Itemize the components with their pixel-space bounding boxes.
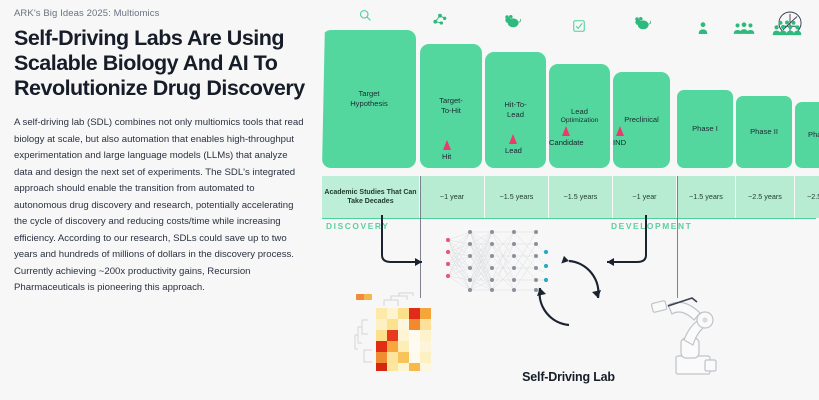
milestone-label: IND xyxy=(613,138,626,147)
body-paragraph: A self-driving lab (SDL) combines not on… xyxy=(14,115,306,297)
pipeline-panel: Target Hypothesis Target- To-Hit Hit-To-… xyxy=(318,0,819,400)
duration-row: Academic Studies That Can Take Decades ~… xyxy=(322,176,816,219)
duration-label: ~1.5 years xyxy=(500,192,534,201)
stage-sublabel: To-Hit xyxy=(439,106,463,116)
duration-label: ~2.5 years xyxy=(748,192,782,201)
stage-sublabel: Hypothesis xyxy=(350,99,388,109)
stage-label: Phase III xyxy=(808,130,819,140)
stage-label: Hit-To- xyxy=(504,100,526,110)
milestone-candidate: Candidate xyxy=(549,126,584,147)
marker-triangle-icon xyxy=(509,134,517,144)
milestone-lead: Lead xyxy=(505,134,522,155)
duration-label: ~1 year xyxy=(440,192,464,201)
circular-arrow-cycle-icon xyxy=(528,252,610,339)
stage-icons-row xyxy=(322,0,816,30)
milestone-hit: Hit xyxy=(442,140,451,161)
duration-label: ~1.5 years xyxy=(564,192,598,201)
duration-label: ~1 year xyxy=(632,192,656,201)
duration-preclinical: ~1 year xyxy=(613,176,677,218)
milestone-label: Lead xyxy=(505,146,522,155)
marker-triangle-icon xyxy=(562,126,570,136)
stage-label: Preclinical xyxy=(624,115,659,125)
eyebrow-label: ARK's Big Ideas 2025: Multiomics xyxy=(14,8,314,19)
magnifier-icon xyxy=(358,8,373,28)
duration-target-to-hit: ~1 year xyxy=(420,176,485,218)
marker-triangle-icon xyxy=(616,126,624,136)
duration-phase-2: ~2.5 years xyxy=(736,176,795,218)
stage-label: Target- xyxy=(439,96,463,106)
clustered-heatmap-icon xyxy=(350,290,440,381)
stage-label: Phase I xyxy=(692,124,718,134)
sdl-title: Self-Driving Lab xyxy=(318,370,819,384)
duration-target-hypothesis: Academic Studies That Can Take Decades xyxy=(322,176,420,218)
duration-lead-optimization: ~1.5 years xyxy=(549,176,613,218)
duration-label: ~1.5 years xyxy=(689,192,723,201)
duration-phase-1: ~1.5 years xyxy=(677,176,736,218)
marker-triangle-icon xyxy=(443,140,451,150)
self-driving-lab-diagram: Self-Driving Lab xyxy=(318,222,819,400)
duration-hit-to-lead: ~1.5 years xyxy=(485,176,549,218)
milestone-label: Candidate xyxy=(549,138,584,147)
infographic-page: ARK's Big Ideas 2025: Multiomics Self-Dr… xyxy=(0,0,819,400)
stage-label: Lead xyxy=(561,107,599,117)
milestone-label: Hit xyxy=(442,152,451,161)
page-title: Self-Driving Labs Are Using Scalable Bio… xyxy=(14,26,314,101)
text-column: ARK's Big Ideas 2025: Multiomics Self-Dr… xyxy=(14,8,314,297)
stage-label: Phase II xyxy=(750,127,778,137)
milestone-markers: Hit Lead Candidate IND xyxy=(322,140,816,178)
robotic-arm-icon xyxy=(648,290,730,381)
stage-label: Target xyxy=(350,89,388,99)
duration-phase-3: ~2.5 years xyxy=(795,176,819,218)
duration-label: ~2.5 years xyxy=(807,192,819,201)
stage-sublabel: Lead xyxy=(504,110,526,120)
milestone-ind: IND xyxy=(613,126,626,147)
duration-label: Academic Studies That Can Take Decades xyxy=(322,188,419,206)
stage-sublabel: Optimization xyxy=(561,117,599,126)
